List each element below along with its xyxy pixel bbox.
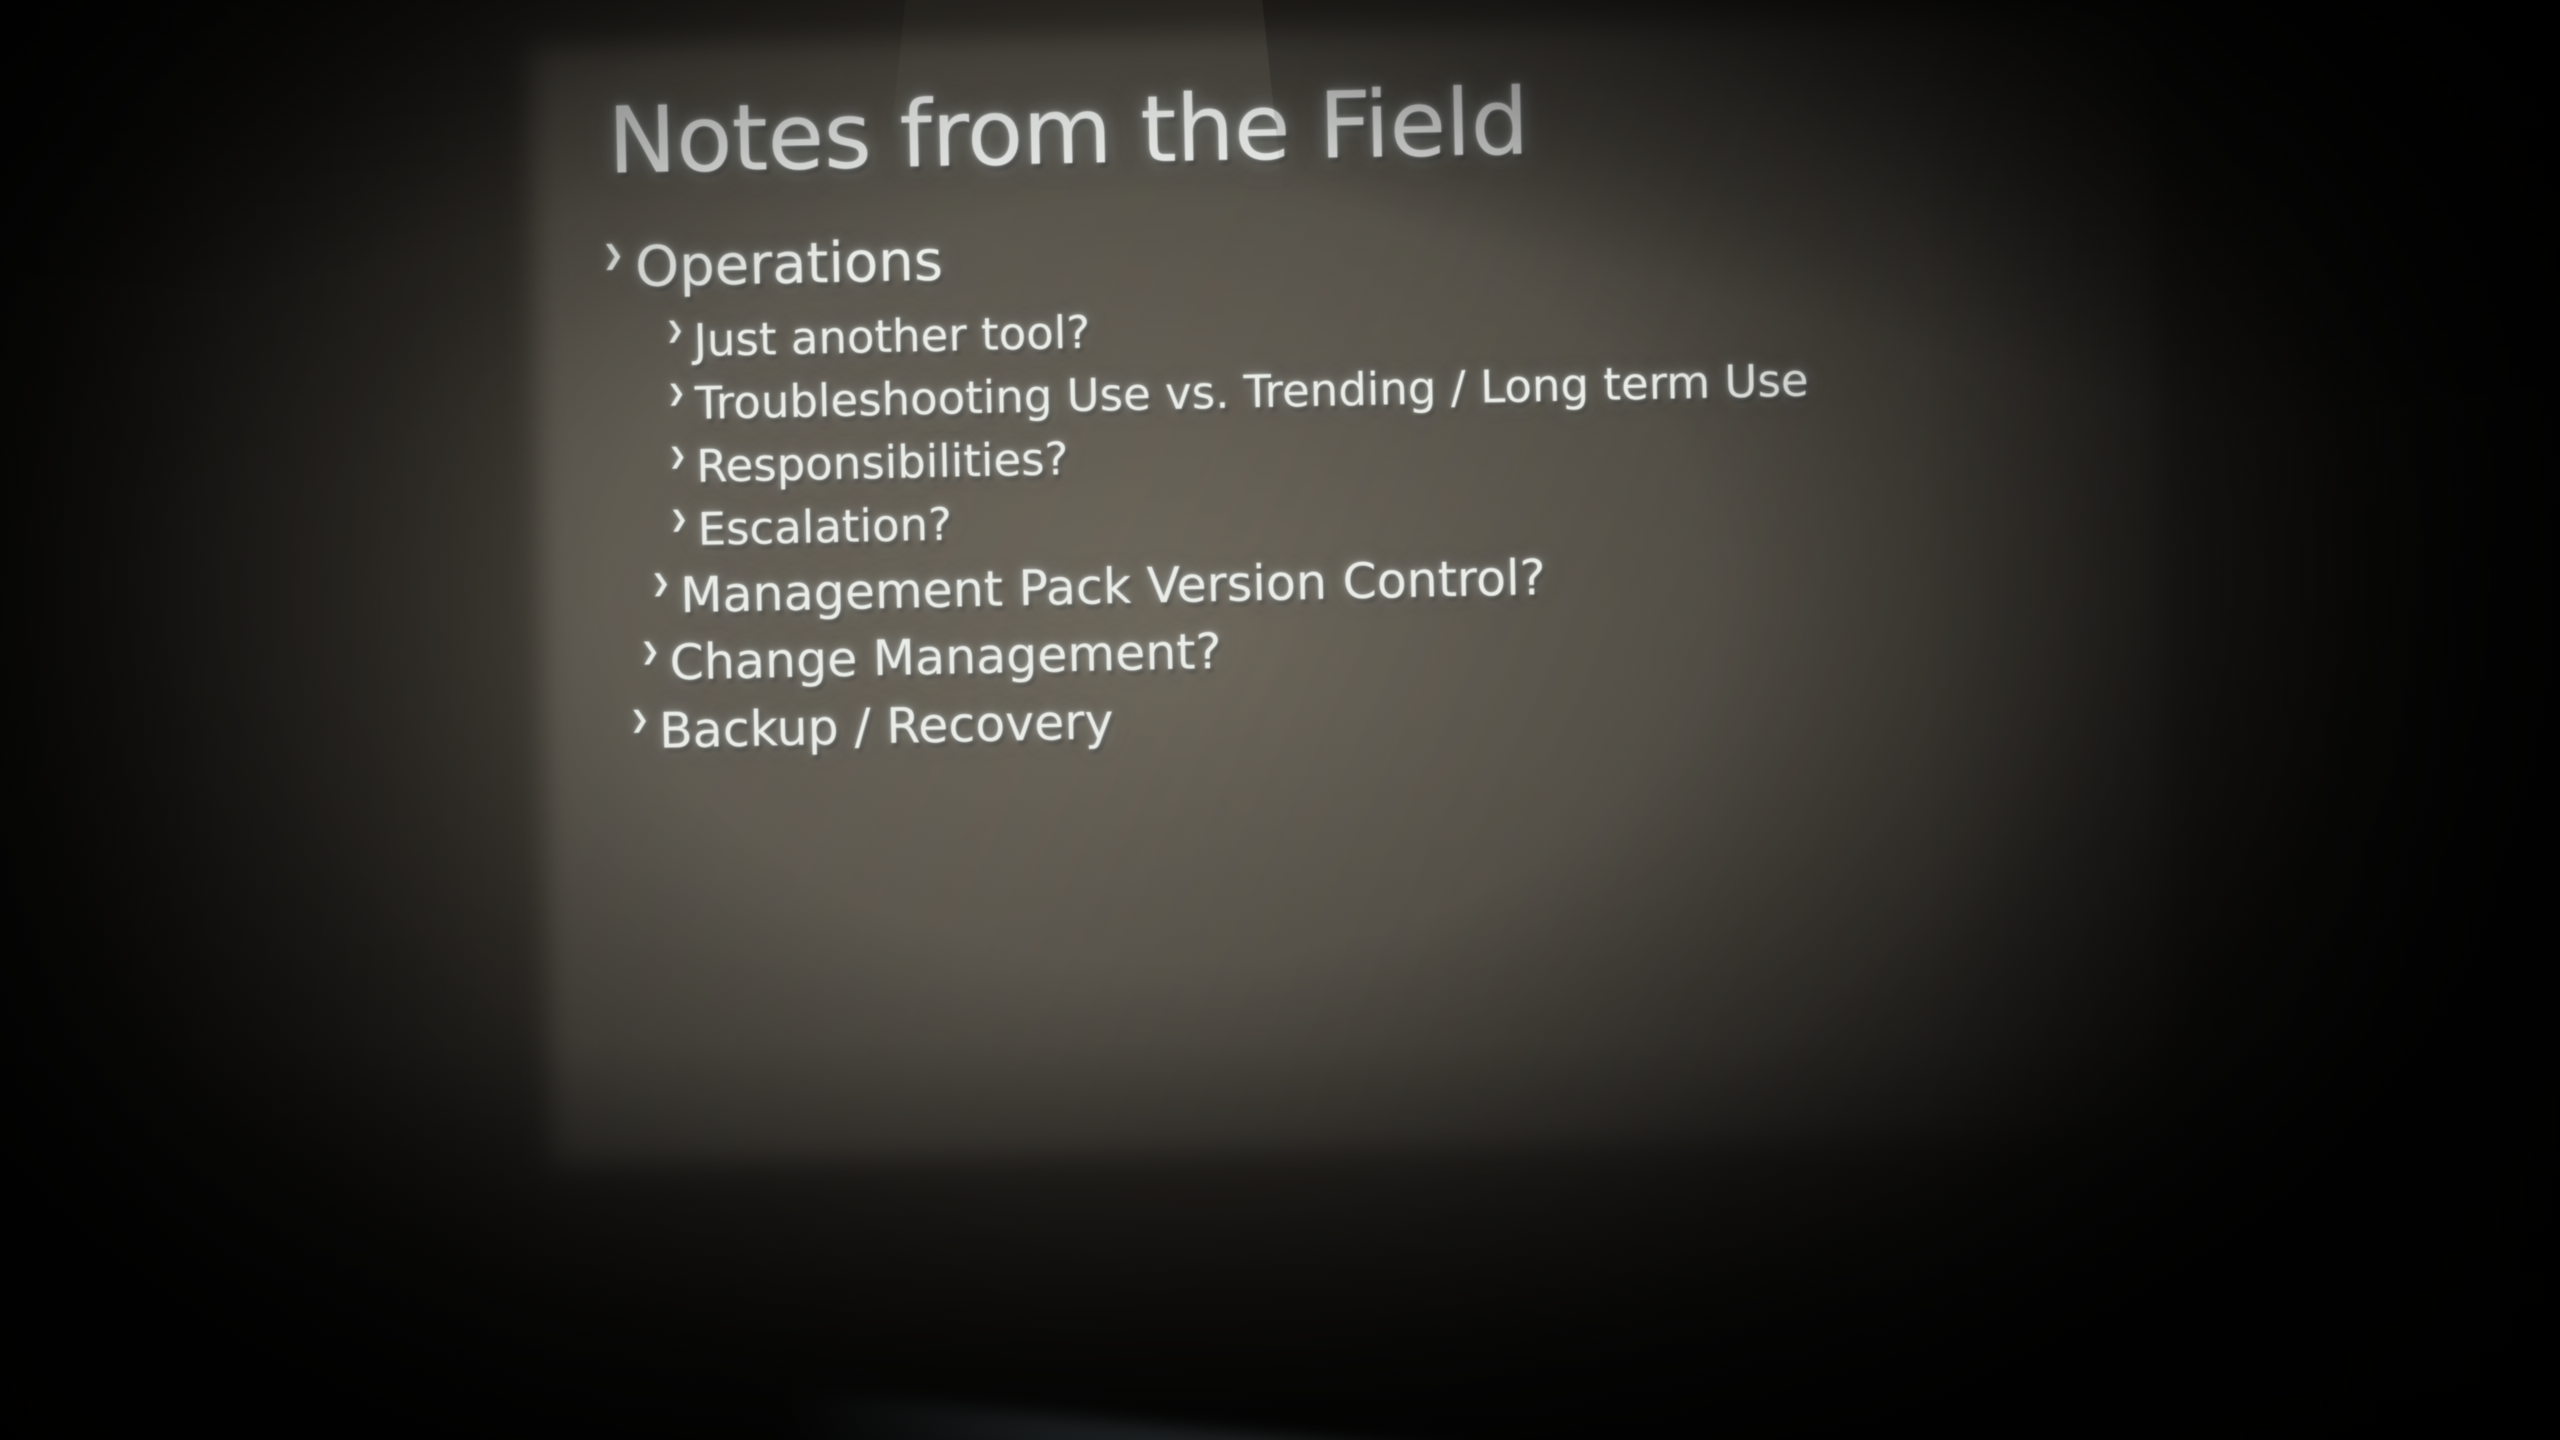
- bullet-marker-icon: ❯: [670, 509, 689, 531]
- bullet-label: Escalation?: [697, 497, 952, 557]
- bullet-label: Just another tool?: [693, 306, 1091, 369]
- slide-title: Notes from the Field: [607, 74, 1530, 190]
- bullet-label: Operations: [634, 229, 943, 302]
- bullet-label: Responsibilities?: [696, 432, 1069, 495]
- bullet-marker-icon: ❯: [640, 641, 660, 664]
- bullet-marker-icon: ❯: [602, 243, 624, 269]
- slide-content: Notes from the Field ❯ Operations ❯ Just…: [558, 13, 2180, 1126]
- bullet-item-operations: ❯ Operations: [602, 204, 2143, 302]
- bullet-marker-icon: ❯: [668, 446, 687, 468]
- bullet-marker-icon: ❯: [630, 709, 650, 732]
- slide-bullet-list: ❯ Operations ❯ Just another tool? ❯ Trou…: [602, 204, 2153, 771]
- bullet-label: Backup / Recovery: [658, 692, 1114, 761]
- bullet-marker-icon: ❯: [666, 320, 685, 342]
- bullet-label: Change Management?: [669, 622, 1222, 693]
- bullet-label: Management Pack Version Control?: [680, 548, 1547, 626]
- bullet-marker-icon: ❯: [667, 383, 686, 405]
- projected-slide-photo: Notes from the Field ❯ Operations ❯ Just…: [0, 0, 2560, 1440]
- bullet-marker-icon: ❯: [651, 573, 671, 596]
